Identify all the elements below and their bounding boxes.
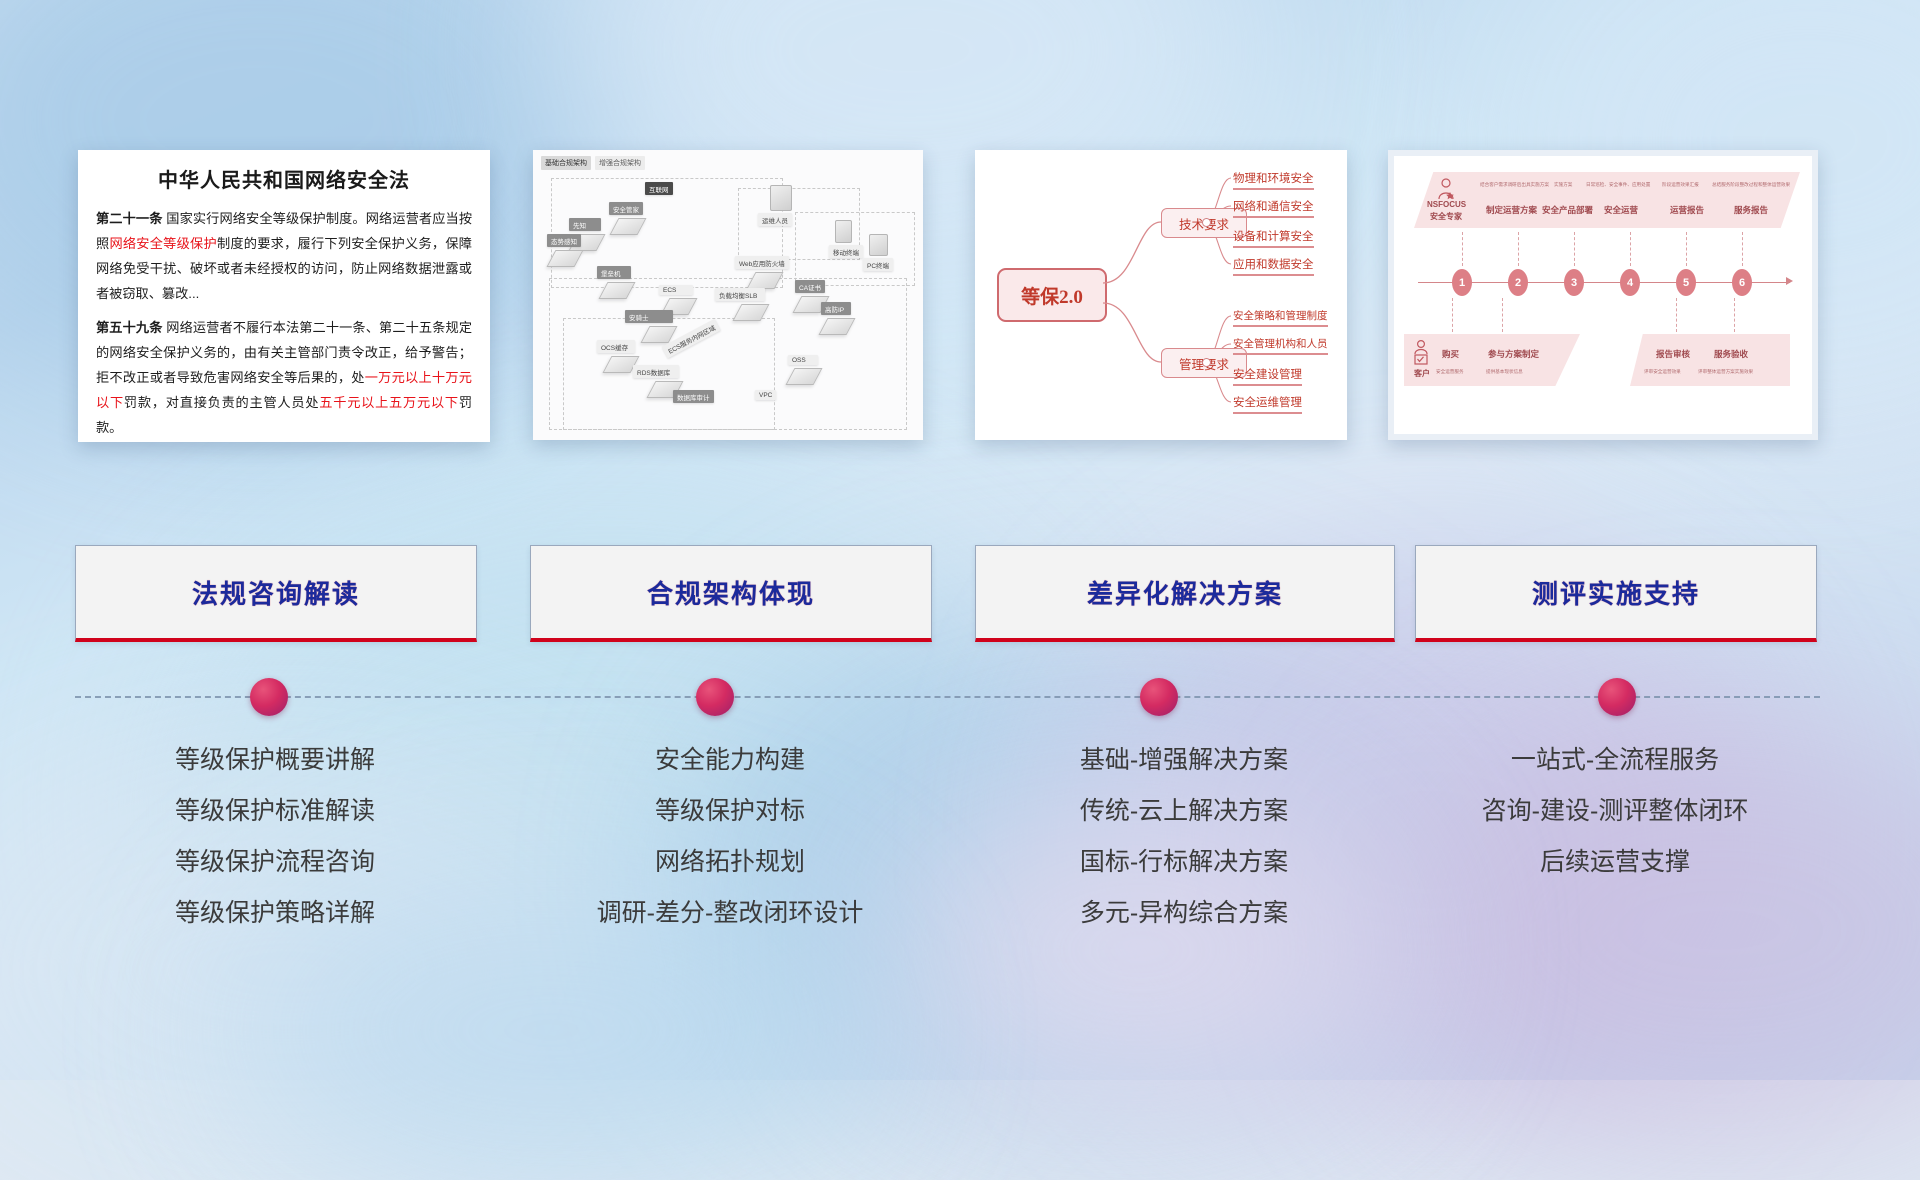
roadmap-bottom-band-right — [1630, 334, 1790, 386]
customer-step5-title: 报告审核 — [1656, 348, 1690, 360]
roadmap-step-1[interactable]: 1 — [1452, 269, 1472, 296]
customer-step2-sub: 提供基本现状信息 — [1486, 369, 1523, 375]
mindmap-leaf-operation: 安全运维管理 — [1233, 394, 1302, 414]
mindmap-collapse-dot-technical[interactable] — [1202, 218, 1211, 227]
arch-tab-group: 基础合规架构 增强合规架构 — [541, 156, 645, 170]
roadmap-arrow-icon — [1786, 277, 1793, 285]
roadmap-step-4[interactable]: 4 — [1620, 269, 1640, 296]
arch-node-ocs: OCS缓存 — [597, 340, 635, 373]
section-heading-card-1[interactable]: 法规咨询解读 — [75, 545, 477, 642]
roadmap-step-6[interactable]: 6 — [1732, 269, 1752, 296]
arch-node-anti-ddos-host: 安骑士 — [625, 310, 673, 343]
timeline-line — [75, 696, 1820, 698]
section-heading-text-2: 合规架构体现 — [647, 574, 815, 611]
roadmap-bottom-band-left — [1404, 334, 1580, 386]
mindmap-collapse-dot-management[interactable] — [1202, 358, 1211, 367]
list-item: 多元-异构综合方案 — [975, 888, 1393, 939]
customer-step6-title: 服务验收 — [1714, 348, 1748, 360]
arch-node-db-audit: 数据库审计 — [673, 390, 714, 403]
list-item: 等级保护对标 — [530, 786, 930, 837]
architecture-diagram-card: 基础合规架构 增强合规架构 互联网 安全管家 先知 — [533, 150, 923, 440]
service-roadmap-card: NSFOCUS 安全专家 结合客户需求调研后出具实施方案 制定运营方案 实施方案… — [1388, 150, 1818, 440]
mindmap-leaf-device: 设备和计算安全 — [1233, 228, 1314, 248]
timeline-dot-1[interactable] — [250, 678, 288, 716]
mindmap-leaf-policy: 安全策略和管理制度 — [1233, 308, 1328, 327]
mindmap-leaf-physical: 物理和环境安全 — [1233, 170, 1314, 190]
list-item: 等级保护流程咨询 — [75, 837, 475, 888]
expert-role-line2: 安全专家 — [1430, 211, 1462, 222]
customer-role-label: 客户 — [1414, 368, 1430, 379]
section-heading-card-4[interactable]: 测评实施支持 — [1415, 545, 1817, 642]
roadmap-step-5[interactable]: 5 — [1676, 269, 1696, 296]
arch-node-admin: 运维人员 — [758, 185, 792, 226]
arch-node-pc: PC终端 — [863, 234, 893, 271]
detail-columns: 等级保护概要讲解 等级保护标准解读 等级保护流程咨询 等级保护策略详解 安全能力… — [0, 735, 1920, 965]
illustration-cards: 中华人民共和国网络安全法 第二十一条 国家实行网络安全等级保护制度。网络运营者应… — [0, 150, 1920, 450]
step3-title: 安全产品部署 — [1542, 204, 1593, 216]
list-item: 等级保护标准解读 — [75, 786, 475, 837]
step4-sub: 日常巡检、安全事件、应用处置 — [1586, 182, 1650, 188]
section-heading-text-4: 测评实施支持 — [1532, 574, 1700, 611]
list-item: 传统-云上解决方案 — [975, 786, 1393, 837]
arch-node-slb: 负载均衡SLB — [715, 288, 765, 321]
mindmap-leaf-application: 应用和数据安全 — [1233, 256, 1314, 276]
step3-sub: 实施方案 — [1554, 182, 1572, 188]
law-article-59: 第五十九条 网络运营者不履行本法第二十一条、第二十五条规定的网络安全保护义务的，… — [96, 315, 472, 440]
law-document-card: 中华人民共和国网络安全法 第二十一条 国家实行网络安全等级保护制度。网络运营者应… — [78, 150, 490, 442]
arch-node-waf: Web应用防火墙 — [735, 256, 789, 289]
arch-node-anti-ddos-ip: 高防IP — [821, 302, 851, 335]
mindmap-leaf-network: 网络和通信安全 — [1233, 198, 1314, 218]
section-heading-card-3[interactable]: 差异化解决方案 — [975, 545, 1395, 642]
list-item: 调研-差分-整改闭环设计 — [530, 888, 930, 939]
timeline-dot-4[interactable] — [1598, 678, 1636, 716]
section-heading-row: 法规咨询解读 合规架构体现 差异化解决方案 测评实施支持 — [0, 545, 1920, 655]
timeline-dot-3[interactable] — [1140, 678, 1178, 716]
detail-column-1: 等级保护概要讲解 等级保护标准解读 等级保护流程咨询 等级保护策略详解 — [75, 735, 475, 939]
mindmap-leaf-construction: 安全建设管理 — [1233, 366, 1302, 386]
article-21-highlight: 网络安全等级保护 — [109, 236, 217, 251]
arch-node-bastion: 堡垒机 — [597, 266, 631, 299]
roadmap-top-band — [1414, 172, 1800, 228]
roadmap-step-3[interactable]: 3 — [1564, 269, 1584, 296]
timeline-dot-2[interactable] — [696, 678, 734, 716]
arch-node-situational: 态势感知 — [547, 234, 581, 267]
customer-step2-title: 参与方案制定 — [1488, 348, 1539, 360]
detail-column-3: 基础-增强解决方案 传统-云上解决方案 国标-行标解决方案 多元-异构综合方案 — [975, 735, 1393, 939]
step5-title: 运营报告 — [1670, 204, 1704, 216]
roadmap-step-2[interactable]: 2 — [1508, 269, 1528, 296]
law-article-21: 第二十一条 国家实行网络安全等级保护制度。网络运营者应当按照网络安全等级保护制度… — [96, 206, 472, 306]
list-item: 安全能力构建 — [530, 735, 930, 786]
step5-sub: 阶段运营效果汇报 — [1662, 182, 1699, 188]
section-heading-text-3: 差异化解决方案 — [1087, 574, 1283, 611]
customer-person-icon — [1412, 340, 1430, 371]
arch-tab-enhanced: 增强合规架构 — [595, 156, 645, 170]
law-title: 中华人民共和国网络安全法 — [96, 164, 472, 193]
arch-node-vpc: VPC — [755, 390, 776, 400]
article-21-label: 第二十一条 — [96, 211, 163, 226]
mindmap-leaf-org: 安全管理机构和人员 — [1233, 336, 1328, 355]
list-item: 等级保护概要讲解 — [75, 735, 475, 786]
step2-sub: 结合客户需求调研后出具实施方案 — [1480, 182, 1549, 188]
list-item: 基础-增强解决方案 — [975, 735, 1393, 786]
article-59-highlight-2: 五千元以上五万元以下 — [319, 395, 459, 410]
section-heading-card-2[interactable]: 合规架构体现 — [530, 545, 932, 642]
expert-role-line1: NSFOCUS — [1427, 200, 1466, 209]
list-item: 咨询-建设-测评整体闭环 — [1415, 786, 1815, 837]
arch-node-mobile: 移动终端 — [829, 220, 863, 258]
arch-node-security-manager: 安全管家 — [609, 202, 643, 235]
step4-title: 安全运营 — [1604, 204, 1638, 216]
step6-sub: 总结服务阶段整改过程和整体运营效果 — [1712, 182, 1790, 188]
customer-step6-sub: 评审整体运营方案实施效果 — [1698, 369, 1753, 375]
timeline — [0, 660, 1920, 730]
arch-node-internet: 互联网 — [645, 182, 673, 195]
article-59-label: 第五十九条 — [96, 320, 163, 335]
list-item: 国标-行标解决方案 — [975, 837, 1393, 888]
customer-step1-title: 购买 — [1442, 348, 1459, 360]
customer-step5-sub: 评审安全运营效果 — [1644, 369, 1681, 375]
step6-title: 服务报告 — [1734, 204, 1768, 216]
list-item: 一站式-全流程服务 — [1415, 735, 1815, 786]
detail-column-2: 安全能力构建 等级保护对标 网络拓扑规划 调研-差分-整改闭环设计 — [530, 735, 930, 939]
arch-tab-basic: 基础合规架构 — [541, 156, 591, 170]
mindmap-card: 等保2.0 技术要求 物理和环境安全 网络和通信安全 设备 — [975, 150, 1347, 440]
step2-title: 制定运营方案 — [1486, 204, 1537, 216]
section-heading-text-1: 法规咨询解读 — [192, 574, 360, 611]
customer-step1-sub: 安全运营服务 — [1436, 369, 1464, 375]
detail-column-4: 一站式-全流程服务 咨询-建设-测评整体闭环 后续运营支撑 — [1415, 735, 1815, 888]
list-item: 后续运营支撑 — [1415, 837, 1815, 888]
list-item: 网络拓扑规划 — [530, 837, 930, 888]
article-59-text-b: 罚款，对直接负责的主管人员处 — [124, 395, 319, 410]
arch-node-oss: OSS — [788, 355, 818, 385]
list-item: 等级保护策略详解 — [75, 888, 475, 939]
